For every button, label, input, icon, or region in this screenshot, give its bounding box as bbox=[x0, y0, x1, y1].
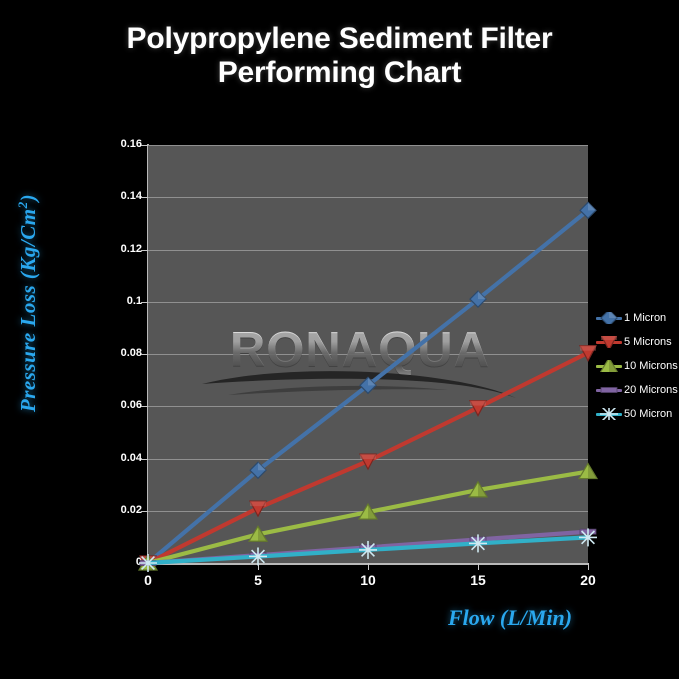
chart-legend: 1 Micron5 Microns10 Microns20 Microns50 … bbox=[596, 306, 678, 426]
data-point bbox=[139, 554, 157, 572]
legend-item-5[interactable]: 50 Micron bbox=[596, 402, 678, 426]
series-layer bbox=[148, 145, 588, 563]
data-point bbox=[601, 388, 617, 393]
data-point bbox=[579, 528, 597, 546]
y-axis-tick-label: 0.12 bbox=[98, 243, 142, 255]
x-axis-tick bbox=[588, 563, 589, 570]
legend-marker-dash-icon bbox=[596, 384, 622, 396]
y-axis-tick bbox=[141, 354, 148, 355]
legend-label: 1 Micron bbox=[624, 312, 666, 324]
legend-label: 10 Microns bbox=[624, 360, 678, 372]
y-axis-tick bbox=[141, 302, 148, 303]
x-axis-tick-label: 5 bbox=[238, 572, 278, 588]
page-title: Polypropylene Sediment Filter Performing… bbox=[0, 22, 679, 90]
x-axis-tick-label: 15 bbox=[458, 572, 498, 588]
x-axis-tick-label: 10 bbox=[348, 572, 388, 588]
y-axis-tick-label: 0 bbox=[98, 556, 142, 568]
y-axis-title-text: Pressure Loss (Kg/Cm bbox=[16, 208, 40, 412]
y-axis-tick-label: 0.04 bbox=[98, 452, 142, 464]
chart-image: Polypropylene Sediment Filter Performing… bbox=[0, 0, 679, 679]
legend-marker-triangle-down-icon bbox=[596, 336, 622, 348]
data-point bbox=[359, 541, 377, 559]
x-axis-tick-label: 20 bbox=[568, 572, 608, 588]
y-axis-tick bbox=[141, 511, 148, 512]
y-axis-tick-label: 0.08 bbox=[98, 347, 142, 359]
legend-label: 50 Micron bbox=[624, 408, 672, 420]
legend-label: 20 Microns bbox=[624, 384, 678, 396]
y-axis-tick bbox=[141, 145, 148, 146]
x-axis-tick bbox=[368, 563, 369, 570]
y-axis-tick bbox=[141, 250, 148, 251]
y-axis-tick-label: 0.02 bbox=[98, 504, 142, 516]
legend-marker-asterisk-icon bbox=[596, 408, 622, 420]
legend-marker-diamond-icon bbox=[596, 312, 622, 324]
data-point bbox=[600, 408, 618, 420]
legend-label: 5 Microns bbox=[624, 336, 672, 348]
legend-item-3[interactable]: 10 Microns bbox=[596, 354, 678, 378]
y-axis-title: Pressure Loss (Kg/Cm2) bbox=[15, 123, 41, 483]
title-line-2: Performing Chart bbox=[0, 56, 679, 90]
title-line-1: Polypropylene Sediment Filter bbox=[127, 22, 553, 55]
x-axis-tick-label: 0 bbox=[128, 572, 168, 588]
y-axis-title-close: ) bbox=[16, 194, 40, 202]
legend-item-1[interactable]: 1 Micron bbox=[596, 306, 678, 330]
data-point bbox=[249, 547, 267, 565]
x-axis-title: Flow (L/Min) bbox=[380, 605, 640, 631]
y-axis-title-superscript: 2 bbox=[15, 201, 30, 208]
legend-item-2[interactable]: 5 Microns bbox=[596, 330, 678, 354]
data-point bbox=[601, 336, 617, 348]
y-axis-tick-label: 0.06 bbox=[98, 399, 142, 411]
y-axis-tick bbox=[141, 406, 148, 407]
legend-item-4[interactable]: 20 Microns bbox=[596, 378, 678, 402]
x-axis-tick bbox=[478, 563, 479, 570]
data-point bbox=[601, 312, 617, 324]
y-axis-tick-label: 0.14 bbox=[98, 190, 142, 202]
plot-area: RONAQUA bbox=[148, 145, 588, 563]
data-point bbox=[469, 534, 487, 552]
y-axis-tick-label: 0.1 bbox=[98, 295, 142, 307]
y-axis-tick bbox=[141, 197, 148, 198]
y-axis-tick-label: 0.16 bbox=[98, 138, 142, 150]
y-axis-tick bbox=[141, 459, 148, 460]
data-point bbox=[600, 360, 618, 372]
legend-marker-triangle-up-icon bbox=[596, 360, 622, 372]
